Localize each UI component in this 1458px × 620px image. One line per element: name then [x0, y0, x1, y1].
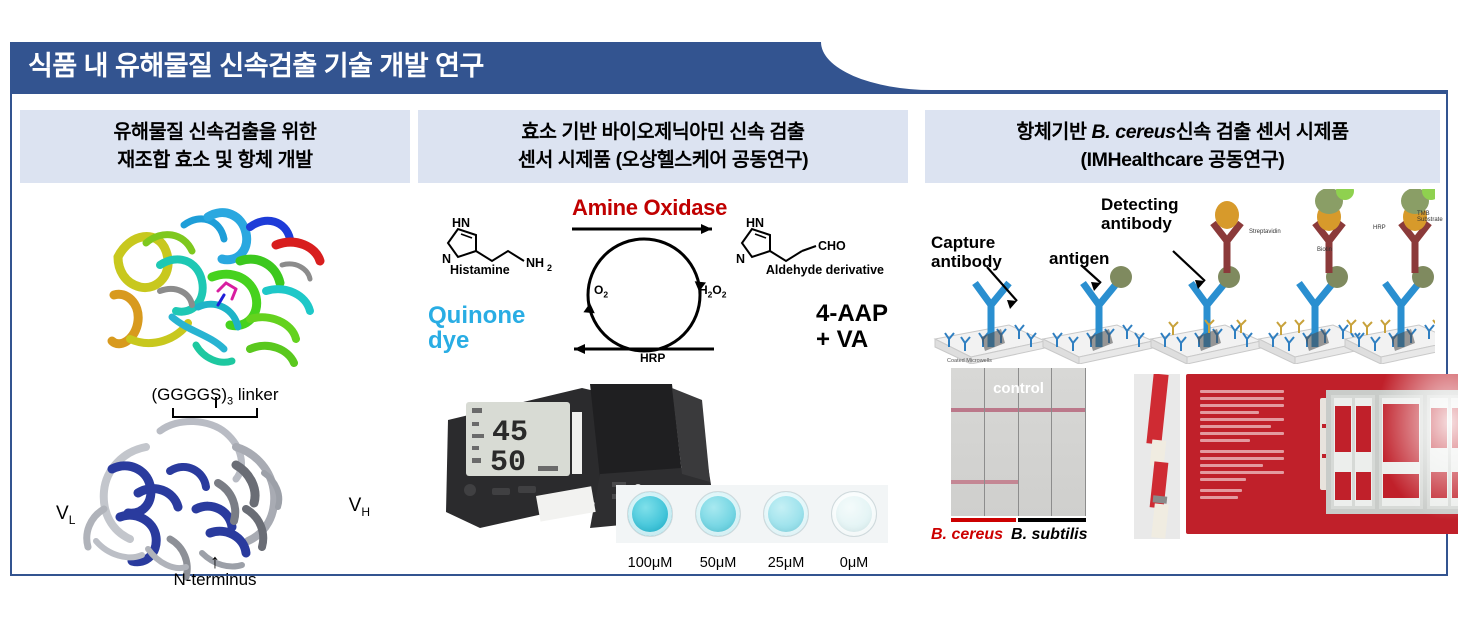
kit-photo — [1130, 368, 1435, 558]
kit-strip-group — [1427, 395, 1458, 509]
svg-text:NH: NH — [526, 256, 544, 270]
control-label: control — [993, 380, 1044, 397]
tmb-substrate-label: TMB Substrate — [1417, 211, 1443, 223]
kit-strip — [1382, 398, 1420, 506]
reaction-scheme-figure: HN N NH 2 HN N CHO Amine Oxidase Histami… — [422, 191, 892, 376]
lateral-flow-strip-photo: control B. cereusB. subtilis — [925, 368, 1130, 558]
quinone-dye-line2: dye — [428, 328, 525, 353]
sensor-device-figure: 45 50 — [418, 378, 888, 573]
well-cell — [616, 485, 684, 543]
scfv-figure: (GGGGS)3 linker — [50, 385, 380, 590]
aap-line2: + VA — [816, 327, 888, 354]
svg-text:50: 50 — [490, 446, 526, 480]
well-cell — [752, 485, 820, 543]
elisa-steps-icon — [925, 189, 1435, 364]
svg-text:2: 2 — [547, 263, 552, 273]
well-100um — [627, 491, 673, 537]
svg-text:N: N — [736, 252, 745, 266]
capture-antibody-line2: antibody — [931, 252, 1002, 271]
kit-strip — [1355, 398, 1373, 506]
species-underbars — [951, 518, 1086, 522]
control-line — [1019, 408, 1052, 412]
bsubtilis-label: B. subtilis — [1011, 526, 1087, 543]
oxygen-label-sub: 2 — [603, 289, 608, 299]
slide-root: 식품 내 유해물질 신속검출 기술 개발 연구 유해물질 신속검출을 위한 재조… — [0, 0, 1458, 620]
strip-lane — [951, 368, 985, 516]
panel-bcereus: 항체기반 B. cereus신속 검출 센서 시제품 (IMHealthcare… — [925, 110, 1440, 558]
vh-label-main: V — [349, 495, 362, 516]
hrp-label: HRP — [1373, 225, 1386, 231]
page-title: 식품 내 유해물질 신속검출 기술 개발 연구 — [28, 44, 484, 88]
panel-biogenic-amine-header: 효소 기반 바이오제닉아민 신속 검출 센서 시제품 (오상헬스케어 공동연구) — [418, 110, 908, 183]
protein-ribbon-icon — [100, 199, 330, 379]
microwell-strip-photo — [616, 485, 888, 543]
test-line — [985, 480, 1018, 484]
svg-text:HN: HN — [746, 216, 764, 230]
protein-ribbon-figure — [100, 199, 330, 379]
panel-bcereus-header: 항체기반 B. cereus신속 검출 센서 시제품 (IMHealthcare… — [925, 110, 1440, 183]
capture-antibody-label: Capture antibody — [931, 233, 1002, 271]
panel-biogenic-amine-header-line2: 센서 시제품 (오상헬스케어 공동연구) — [424, 146, 902, 174]
strip-lanes: control — [951, 368, 1086, 516]
bcereus-header-suffix: 신속 검출 센서 시제품 — [1176, 121, 1349, 143]
well-50um — [695, 491, 741, 537]
svg-text:HN: HN — [452, 216, 470, 230]
detecting-antibody-line1: Detecting — [1101, 195, 1178, 214]
vl-label: VL — [56, 503, 75, 527]
coated-microwells-label: Coated Microwells — [947, 358, 992, 364]
control-line — [951, 408, 984, 412]
n-terminus-arrow-icon: ↑ — [173, 554, 256, 570]
amine-oxidase-label: Amine Oxidase — [572, 195, 727, 221]
vl-label-main: V — [56, 503, 69, 524]
well-cell — [684, 485, 752, 543]
peroxide-o: O — [712, 283, 721, 297]
elisa-schematic-figure: Capture antibody antigen Detecting antib… — [925, 189, 1435, 364]
streptavidin-label: Streptavidin — [1249, 229, 1281, 235]
capture-antibody-line1: Capture — [931, 233, 1002, 252]
linker-label-tail: linker — [233, 385, 278, 404]
panel-recombinant-header-line1: 유해물질 신속검출을 위한 — [26, 118, 404, 146]
aap-va-label: 4-AAP + VA — [816, 301, 888, 355]
panel-bcereus-header-line1: 항체기반 B. cereus신속 검출 센서 시제품 — [931, 118, 1434, 146]
well-cell — [820, 485, 888, 543]
histamine-label: Histamine — [450, 263, 510, 277]
kit-strip — [1334, 398, 1352, 506]
panel-recombinant-body: (GGGGS)3 linker — [20, 199, 410, 590]
well-label-1: 50μM — [684, 555, 752, 571]
species-labels: B. cereusB. subtilis — [931, 526, 1131, 544]
well-label-2: 25μM — [752, 555, 820, 571]
detecting-antibody-line2: antibody — [1101, 214, 1178, 233]
test-line — [951, 480, 984, 484]
panel-recombinant-header-line2: 재조합 효소 및 항체 개발 — [26, 146, 404, 174]
panel-recombinant-header: 유해물질 신속검출을 위한 재조합 효소 및 항체 개발 — [20, 110, 410, 183]
control-line — [1052, 408, 1085, 412]
single-strip-icon — [1134, 374, 1180, 539]
well-25um — [763, 491, 809, 537]
n-terminus-annotation: ↑ N-terminus — [173, 554, 256, 590]
well-label-3: 0μM — [820, 555, 888, 571]
peroxide-label: H2O2 — [699, 283, 726, 299]
hrp-label: HRP — [640, 351, 665, 365]
bcereus-species-name: B. cereus — [1092, 121, 1176, 143]
control-line — [985, 408, 1018, 412]
panel-recombinant: 유해물질 신속검출을 위한 재조합 효소 및 항체 개발 — [20, 110, 410, 590]
panel-bcereus-body: Capture antibody antigen Detecting antib… — [925, 189, 1440, 558]
n-terminus-label: N-terminus — [173, 570, 256, 589]
peroxide-sub2: 2 — [722, 289, 727, 299]
aldehyde-derivative-label: Aldehyde derivative — [766, 263, 884, 277]
well-concentration-labels: 100μM 50μM 25μM 0μM — [616, 555, 888, 571]
single-strip-photo — [1134, 374, 1180, 539]
vl-label-sub: L — [69, 512, 76, 526]
oxygen-label: O2 — [594, 283, 608, 299]
vh-label-sub: H — [361, 504, 370, 518]
kit-card-text-block — [1200, 390, 1284, 503]
panel-bcereus-header-line2: (IMHealthcare 공동연구) — [931, 146, 1434, 174]
quinone-dye-label: Quinone dye — [428, 303, 525, 353]
panel-biogenic-amine-header-line1: 효소 기반 바이오제닉아민 신속 검출 — [424, 118, 902, 146]
kit-card-strip-diagram — [1326, 390, 1458, 514]
kit-strip-group — [1331, 395, 1375, 509]
aap-line1: 4-AAP — [816, 301, 888, 328]
oxygen-label-main: O — [594, 283, 603, 297]
kit-instruction-card — [1186, 374, 1458, 534]
well-label-0: 100μM — [616, 555, 684, 571]
strip-lane — [1052, 368, 1086, 516]
panel-biogenic-amine-body: HN N NH 2 HN N CHO Amine Oxidase Histami… — [418, 191, 908, 573]
bcereus-header-prefix: 항체기반 — [1016, 121, 1091, 143]
antigen-label: antigen — [1049, 249, 1109, 269]
svg-text:45: 45 — [492, 416, 528, 450]
bsubtilis-underbar — [1018, 518, 1086, 522]
detecting-antibody-label: Detecting antibody — [1101, 195, 1178, 233]
kit-strip — [1430, 398, 1448, 506]
title-banner-curve — [821, 42, 941, 90]
svg-text:CHO: CHO — [818, 239, 846, 253]
bcereus-label: B. cereus — [931, 526, 1003, 543]
bcereus-underbar — [951, 518, 1016, 522]
vh-label: VH — [349, 495, 370, 519]
biotin-label: Biotin — [1317, 247, 1332, 253]
peroxide-h: H — [699, 283, 708, 297]
kit-strip — [1451, 398, 1458, 506]
well-0um — [831, 491, 877, 537]
bcereus-results-figures: control B. cereusB. subtilis — [925, 368, 1435, 558]
kit-strip-group — [1379, 395, 1423, 509]
panel-biogenic-amine: 효소 기반 바이오제닉아민 신속 검출 센서 시제품 (오상헬스케어 공동연구) — [418, 110, 908, 573]
quinone-dye-line1: Quinone — [428, 303, 525, 328]
